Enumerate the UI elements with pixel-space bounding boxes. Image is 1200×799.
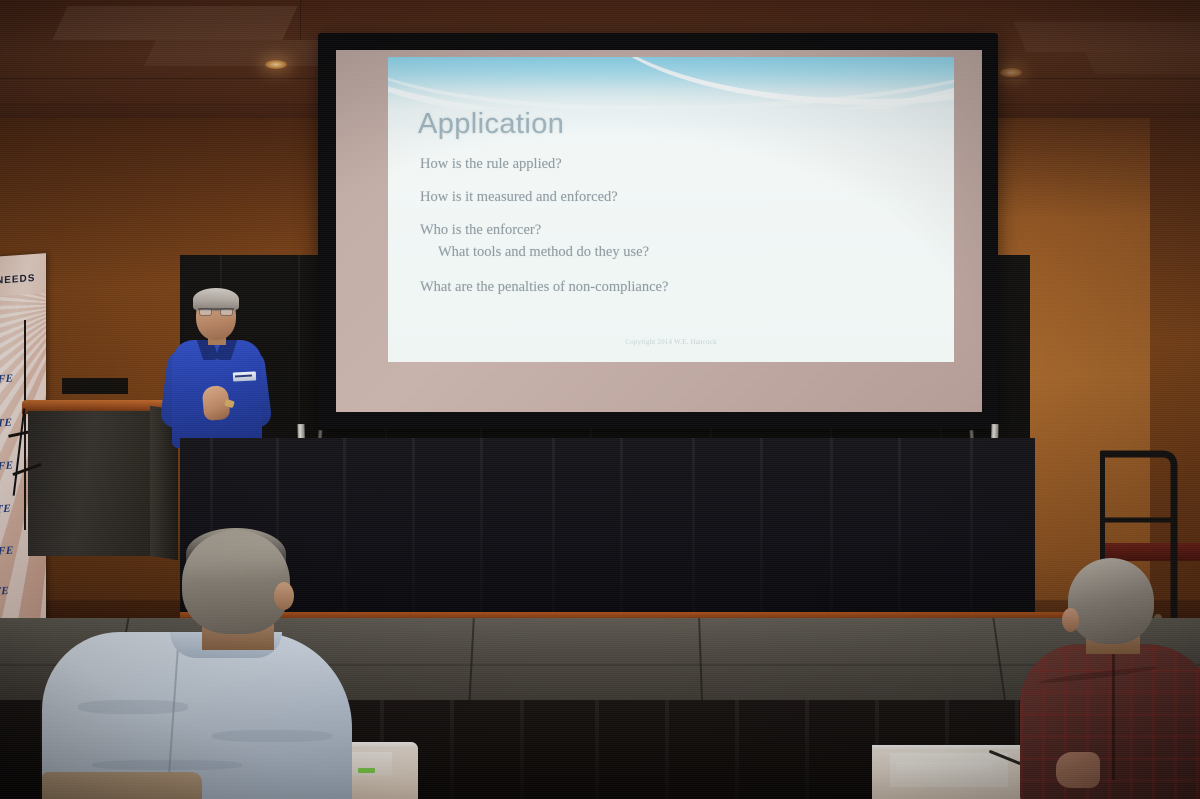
audience-hand	[1056, 752, 1100, 788]
slide-bullet: What are the penalties of non-compliance…	[420, 280, 920, 295]
ceiling-light-icon	[265, 60, 287, 69]
banner-text: AFE	[0, 460, 14, 473]
slide-copyright: Copyright 2014 W.E. Hancock	[388, 339, 954, 346]
banner-text: ATE	[0, 418, 12, 431]
projected-slide: Application How is the rule applied? How…	[388, 57, 954, 362]
slide-bullet: How is the rule applied?	[420, 157, 920, 172]
audience-shirt-plaid	[1020, 644, 1200, 799]
audience-member-front-right	[1008, 552, 1200, 799]
chair-back	[42, 772, 202, 799]
presentation-room-photo: NEEDS AFE ATE AFE TE FE TE	[0, 0, 1200, 799]
slide-bullet: Who is the enforcer?	[420, 223, 920, 238]
banner-text: FE	[0, 545, 14, 557]
slide-bullet-sub: What tools and method do they use?	[438, 245, 920, 260]
banner-pole	[24, 320, 26, 530]
paper-sheet	[896, 762, 992, 784]
slide-body: How is the rule applied? How is it measu…	[420, 157, 920, 313]
ceiling-light-icon	[1000, 68, 1022, 77]
eyeglasses-icon	[198, 308, 234, 315]
slide-title: Application	[418, 109, 564, 141]
slide-bullet: How is it measured and enforced?	[420, 190, 920, 205]
banner-text: TE	[0, 504, 11, 516]
banner-text: TE	[0, 586, 9, 598]
banner-top-text: NEEDS	[0, 274, 35, 287]
banner-text: AFE	[0, 373, 14, 386]
audience-head	[1068, 558, 1154, 644]
green-sticky-tab	[358, 768, 375, 773]
audience-member-front-left	[52, 520, 352, 799]
